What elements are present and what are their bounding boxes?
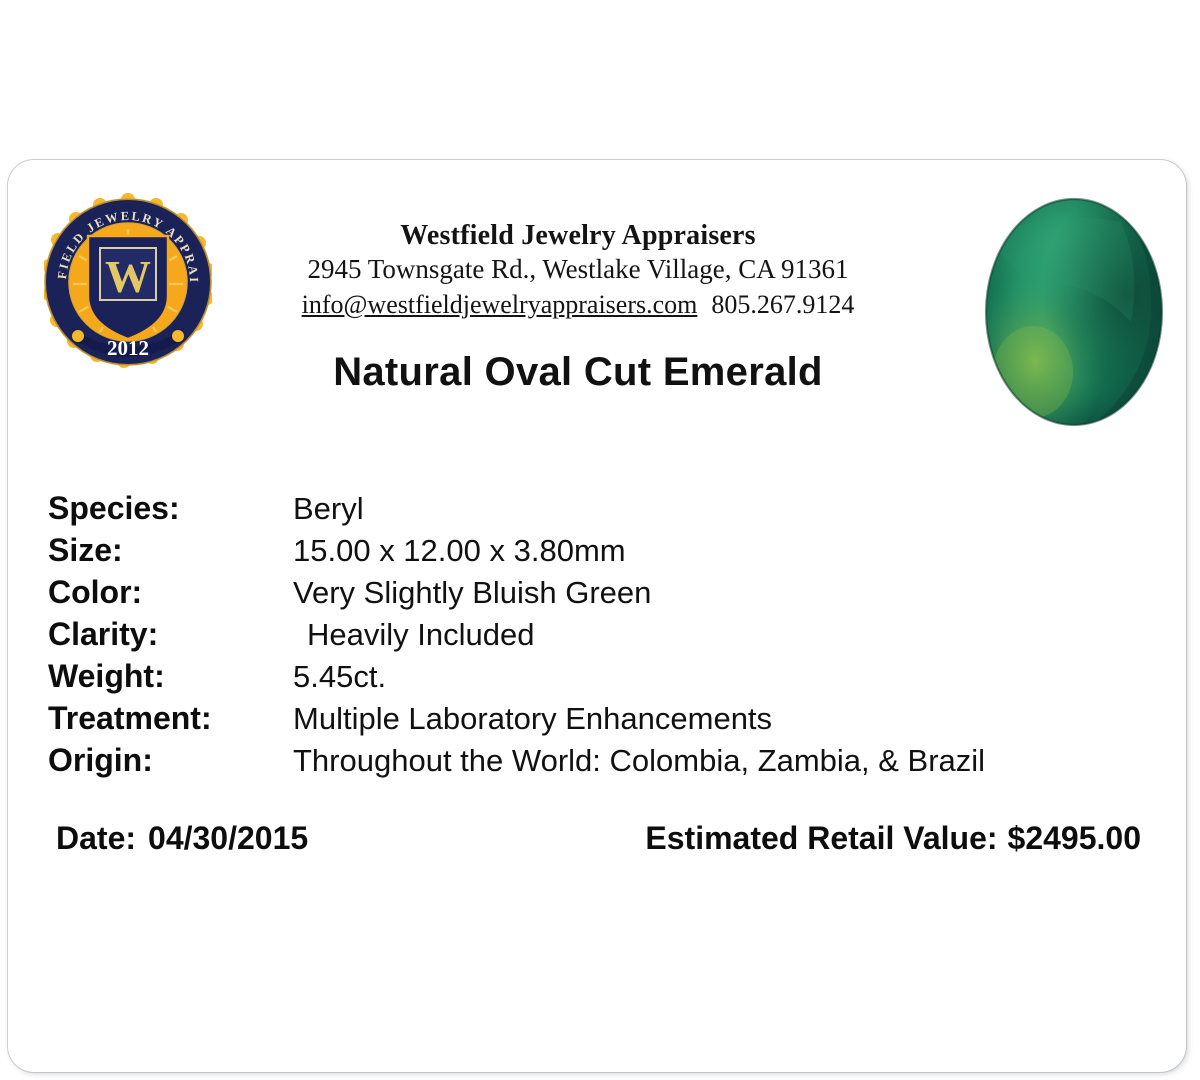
gemstone-specifications: Species: Beryl Size: 15.00 x 12.00 x 3.8… xyxy=(48,490,1148,784)
company-email-link[interactable]: info@westfieldjewelryappraisers.com xyxy=(302,290,698,319)
appraisal-card: WESTFIELD JEWELRY APPRAISERS xyxy=(8,160,1186,1072)
spec-row-clarity: Clarity: Heavily Included xyxy=(48,616,1148,658)
certificate-footer: Date:04/30/2015 Estimated Retail Value:$… xyxy=(56,820,1141,857)
retail-value-label: Estimated Retail Value: xyxy=(645,820,997,856)
seal-monogram: W xyxy=(105,251,151,302)
spec-row-treatment: Treatment: Multiple Laboratory Enhanceme… xyxy=(48,700,1148,742)
spec-label-color: Color: xyxy=(48,574,293,611)
date-value: 04/30/2015 xyxy=(148,820,308,856)
westfield-seal-logo: WESTFIELD JEWELRY APPRAISERS xyxy=(44,192,212,368)
company-address: 2945 Townsgate Rd., Westlake Village, CA… xyxy=(228,253,928,286)
certificate-title: Natural Oval Cut Emerald xyxy=(228,350,928,395)
estimated-retail-value: Estimated Retail Value:$2495.00 xyxy=(645,820,1141,857)
spec-value-clarity: Heavily Included xyxy=(293,617,534,653)
spec-value-treatment: Multiple Laboratory Enhancements xyxy=(293,701,772,737)
retail-value-amount: $2495.00 xyxy=(1008,820,1141,856)
appraisal-date: Date:04/30/2015 xyxy=(56,820,308,857)
spec-label-treatment: Treatment: xyxy=(48,700,293,737)
spec-label-size: Size: xyxy=(48,532,293,569)
spec-label-clarity: Clarity: xyxy=(48,616,293,653)
spec-value-size: 15.00 x 12.00 x 3.80mm xyxy=(293,533,626,569)
company-phone: 805.267.9124 xyxy=(711,290,854,319)
spec-value-weight: 5.45ct. xyxy=(293,659,386,695)
appraiser-contact-block: Westfield Jewelry Appraisers 2945 Townsg… xyxy=(228,220,928,321)
company-name: Westfield Jewelry Appraisers xyxy=(228,220,928,251)
spec-label-weight: Weight: xyxy=(48,658,293,695)
gemstone-photo xyxy=(971,182,1176,447)
company-contact-line: info@westfieldjewelryappraisers.com805.2… xyxy=(228,289,928,321)
spec-row-origin: Origin: Throughout the World: Colombia, … xyxy=(48,742,1148,784)
spec-row-color: Color: Very Slightly Bluish Green xyxy=(48,574,1148,616)
date-label: Date: xyxy=(56,820,136,856)
spec-value-species: Beryl xyxy=(293,491,364,527)
spec-label-origin: Origin: xyxy=(48,742,293,779)
seal-shield: W xyxy=(88,236,168,339)
spec-row-weight: Weight: 5.45ct. xyxy=(48,658,1148,700)
spec-value-origin: Throughout the World: Colombia, Zambia, … xyxy=(293,743,985,779)
spec-value-color: Very Slightly Bluish Green xyxy=(293,575,651,611)
seal-year: 2012 xyxy=(107,336,149,360)
spec-row-species: Species: Beryl xyxy=(48,490,1148,532)
spec-label-species: Species: xyxy=(48,490,293,527)
spec-row-size: Size: 15.00 x 12.00 x 3.80mm xyxy=(48,532,1148,574)
